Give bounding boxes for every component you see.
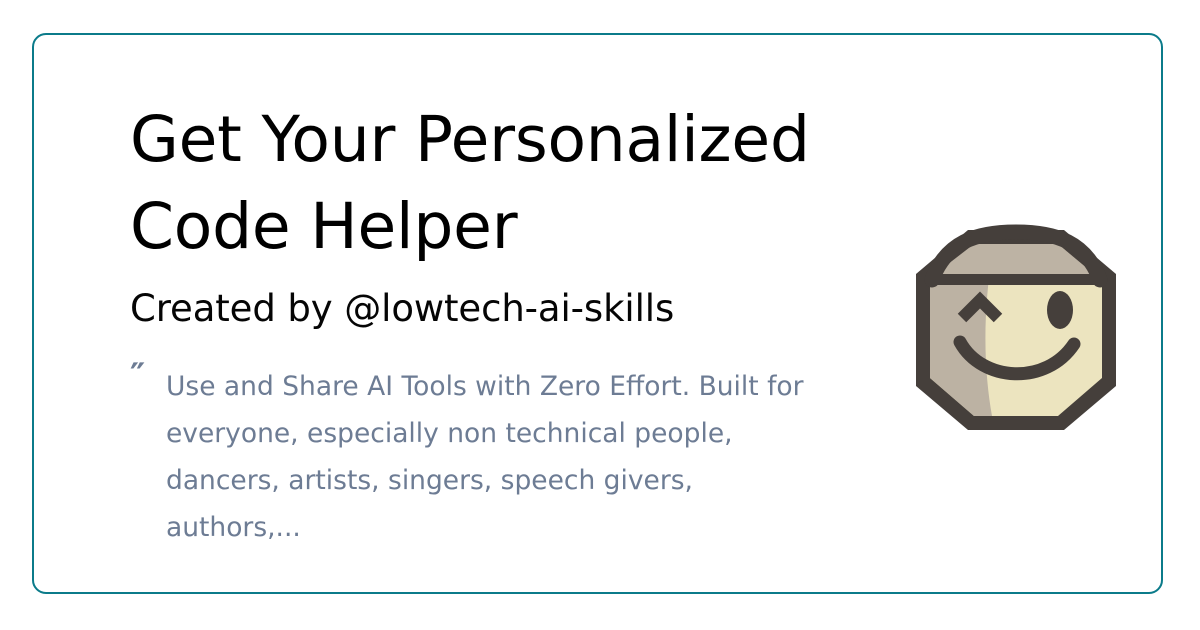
page-title: Get Your Personalized Code Helper bbox=[130, 97, 830, 271]
quote-text: Use and Share AI Tools with Zero Effort.… bbox=[130, 363, 814, 552]
octagon-face-icon bbox=[896, 210, 1136, 450]
og-preview-card: Get Your Personalized Code Helper Create… bbox=[32, 33, 1163, 594]
avatar-cap-divider bbox=[930, 274, 1102, 285]
avatar-eye-icon bbox=[1047, 291, 1073, 329]
quote-mark-icon: ″ bbox=[130, 359, 143, 393]
text-column: Get Your Personalized Code Helper Create… bbox=[130, 97, 870, 552]
creator-byline: Created by @lowtech-ai-skills bbox=[130, 285, 870, 333]
card-content: Get Your Personalized Code Helper Create… bbox=[34, 35, 1161, 592]
avatar bbox=[896, 210, 1136, 450]
quote-block: ″ Use and Share AI Tools with Zero Effor… bbox=[130, 363, 830, 552]
